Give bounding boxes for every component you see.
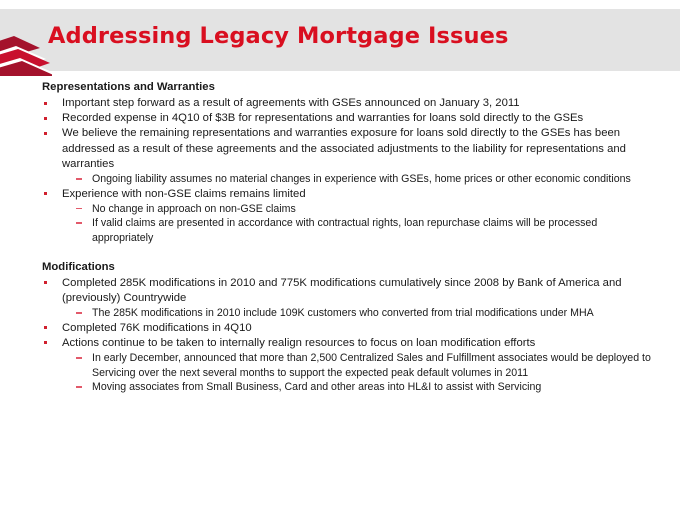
dash-bullet-icon [76, 222, 82, 224]
list-item-text: Completed 76K modifications in 4Q10 [62, 322, 252, 334]
square-bullet-icon [44, 281, 47, 284]
dash-bullet-icon [76, 208, 82, 210]
list-item: Experience with non-GSE claims remains l… [0, 187, 680, 202]
square-bullet-icon [44, 192, 47, 195]
sub-list-item: If valid claims are presented in accorda… [0, 216, 680, 245]
sub-list-item: Moving associates from Small Business, C… [0, 380, 680, 395]
list-item: Recorded expense in 4Q10 of $3B for repr… [0, 111, 680, 126]
list-item-text: Experience with non-GSE claims remains l… [62, 188, 306, 200]
dash-bullet-icon [76, 357, 82, 359]
section-representations-and-warranties: Representations and Warranties Important… [0, 80, 680, 246]
list-item: Completed 285K modifications in 2010 and… [0, 276, 680, 306]
sub-list-item: No change in approach on non-GSE claims [0, 202, 680, 217]
bullet-list: Important step forward as a result of ag… [0, 96, 680, 246]
list-item: Actions continue to be taken to internal… [0, 336, 680, 351]
dash-bullet-icon [76, 178, 82, 180]
page-title: Addressing Legacy Mortgage Issues [48, 23, 508, 49]
section-modifications: Modifications Completed 285K modificatio… [0, 260, 680, 395]
section-heading: Representations and Warranties [42, 80, 680, 95]
sub-list-item: The 285K modifications in 2010 include 1… [0, 306, 680, 321]
sub-list-item: Ongoing liability assumes no material ch… [0, 172, 680, 187]
list-item: Important step forward as a result of ag… [0, 96, 680, 111]
sub-list-item-text: In early December, announced that more t… [92, 352, 651, 379]
square-bullet-icon [44, 117, 47, 120]
sub-list-item-text: Moving associates from Small Business, C… [92, 381, 541, 393]
square-bullet-icon [44, 341, 47, 344]
list-item-text: Actions continue to be taken to internal… [62, 337, 535, 349]
list-item-text: Recorded expense in 4Q10 of $3B for repr… [62, 112, 583, 124]
list-item: Completed 76K modifications in 4Q10 [0, 321, 680, 336]
sub-list-item-text: The 285K modifications in 2010 include 1… [92, 307, 594, 319]
section-heading: Modifications [42, 260, 680, 275]
sub-list-item: In early December, announced that more t… [0, 351, 680, 380]
sub-list-item-text: No change in approach on non-GSE claims [92, 203, 296, 215]
sub-list-item-text: If valid claims are presented in accorda… [92, 217, 597, 244]
square-bullet-icon [44, 102, 47, 105]
dash-bullet-icon [76, 386, 82, 388]
list-item-text: Completed 285K modifications in 2010 and… [62, 277, 622, 304]
square-bullet-icon [44, 326, 47, 329]
sub-list-item-text: Ongoing liability assumes no material ch… [92, 173, 631, 185]
dash-bullet-icon [76, 312, 82, 314]
slide-content: Representations and Warranties Important… [0, 80, 680, 510]
list-item-text: We believe the remaining representations… [62, 127, 626, 169]
section-spacer [0, 246, 680, 260]
square-bullet-icon [44, 132, 47, 135]
bullet-list: Completed 285K modifications in 2010 and… [0, 276, 680, 395]
list-item-text: Important step forward as a result of ag… [62, 97, 520, 109]
list-item: We believe the remaining representations… [0, 126, 680, 172]
